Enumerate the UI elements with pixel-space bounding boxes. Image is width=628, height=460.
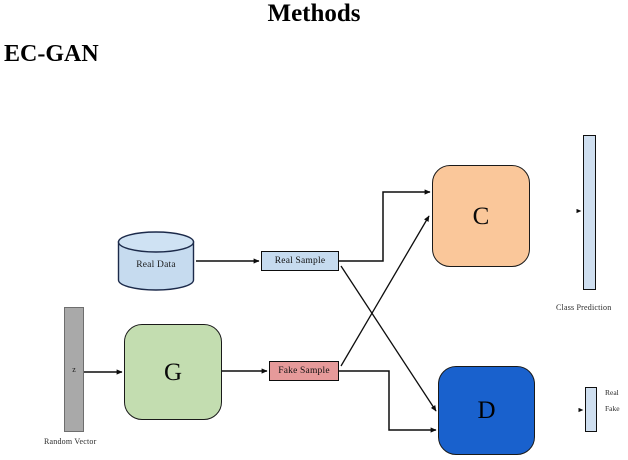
real-sample-box[interactable]: Real Sample [261,251,339,271]
realfake-output-bar[interactable] [585,387,597,432]
random-vector-bar[interactable]: z [64,307,84,432]
discriminator-glyph: D [477,398,495,423]
generator-block[interactable]: G [124,324,222,420]
output-label-fake: Fake [605,404,620,413]
class-prediction-caption: Class Prediction [556,303,611,312]
output-label-real: Real [605,388,619,397]
random-vector-caption: Random Vector [44,437,96,446]
edge-real-sample-to-discriminator [341,266,436,411]
generator-glyph: G [164,360,182,385]
random-vector-glyph: z [72,365,76,374]
classifier-block[interactable]: C [432,165,530,267]
fake-sample-label: Fake Sample [278,366,330,376]
discriminator-block[interactable]: D [438,366,535,455]
real-sample-label: Real Sample [275,256,325,266]
ec-gan-architecture-diagram: z Random Vector G Real Data Real Sample … [0,0,628,460]
edge-fake-sample-to-discriminator [339,371,436,430]
real-data-cylinder[interactable]: Real Data [117,231,195,291]
real-data-label: Real Data [136,260,176,270]
edge-fake-sample-to-classifier [341,216,429,366]
edge-real-sample-to-classifier [339,192,430,261]
classifier-glyph: C [473,204,490,229]
fake-sample-box[interactable]: Fake Sample [269,361,339,381]
class-prediction-bar[interactable] [583,135,596,290]
